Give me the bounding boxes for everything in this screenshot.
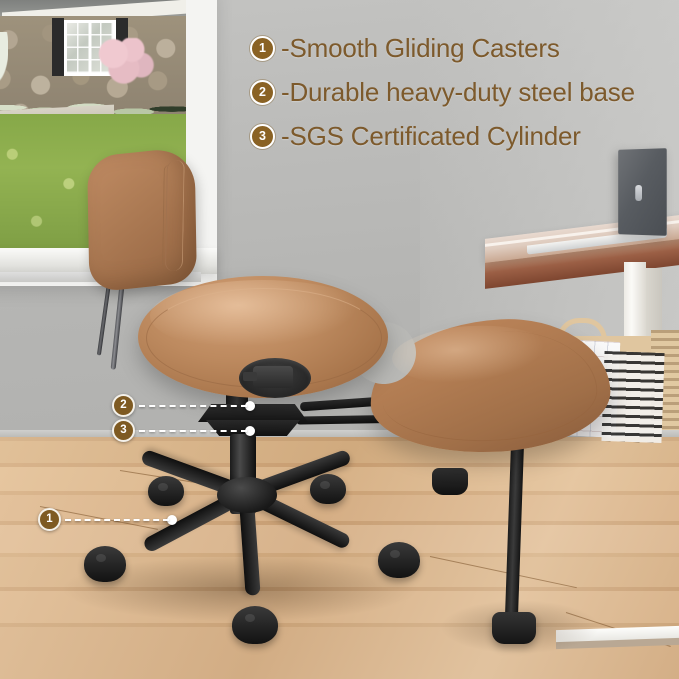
product-feature-image: 1 -Smooth Gliding Casters 2 -Durable hea… <box>0 0 679 679</box>
caster-wheel <box>310 474 346 504</box>
feature-label-2: -Durable heavy-duty steel base <box>281 77 635 108</box>
feature-text-1: Smooth Gliding Casters <box>289 33 559 63</box>
striped-blanket <box>601 351 664 443</box>
callout-leader-line-3 <box>139 430 247 432</box>
feature-item-2: 2 -Durable heavy-duty steel base <box>250 70 675 114</box>
caster-wheel <box>378 542 420 578</box>
callout-leader-line-2 <box>139 405 247 407</box>
callout-leader-line-1 <box>65 519 169 521</box>
window-shutter-left <box>52 18 64 76</box>
feature-text-3: SGS Certificated Cylinder <box>289 121 580 151</box>
caster-wheel <box>148 476 184 506</box>
caster-wheel <box>84 546 126 582</box>
laptop-screen <box>618 148 667 236</box>
height-adjust-lever[interactable] <box>253 366 293 388</box>
extension-caster <box>492 612 536 644</box>
feature-badge-1: 1 <box>250 36 275 61</box>
feature-list: 1 -Smooth Gliding Casters 2 -Durable hea… <box>250 26 675 158</box>
chair-backrest <box>87 146 197 293</box>
callout-3: 3 <box>112 419 255 442</box>
feature-badge-3: 3 <box>250 124 275 149</box>
extension-inner-caster <box>432 468 468 495</box>
flowering-tree <box>96 38 154 90</box>
feature-badge-2: 2 <box>250 80 275 105</box>
feature-label-3: -SGS Certificated Cylinder <box>281 121 581 152</box>
callout-badge-3: 3 <box>112 419 135 442</box>
feature-item-3: 3 -SGS Certificated Cylinder <box>250 114 675 158</box>
small-tree <box>0 32 8 82</box>
caster-wheel <box>232 606 278 644</box>
feature-label-1: -Smooth Gliding Casters <box>281 33 560 64</box>
callout-2: 2 <box>112 394 255 417</box>
callout-badge-2: 2 <box>112 394 135 417</box>
feature-item-1: 1 -Smooth Gliding Casters <box>250 26 675 70</box>
callout-badge-1: 1 <box>38 508 61 531</box>
feature-text-2: Durable heavy-duty steel base <box>289 77 634 107</box>
backrest-seam-inner <box>162 165 175 270</box>
laptop-logo <box>635 185 642 201</box>
base-hub <box>217 477 277 513</box>
callout-1: 1 <box>38 508 177 531</box>
